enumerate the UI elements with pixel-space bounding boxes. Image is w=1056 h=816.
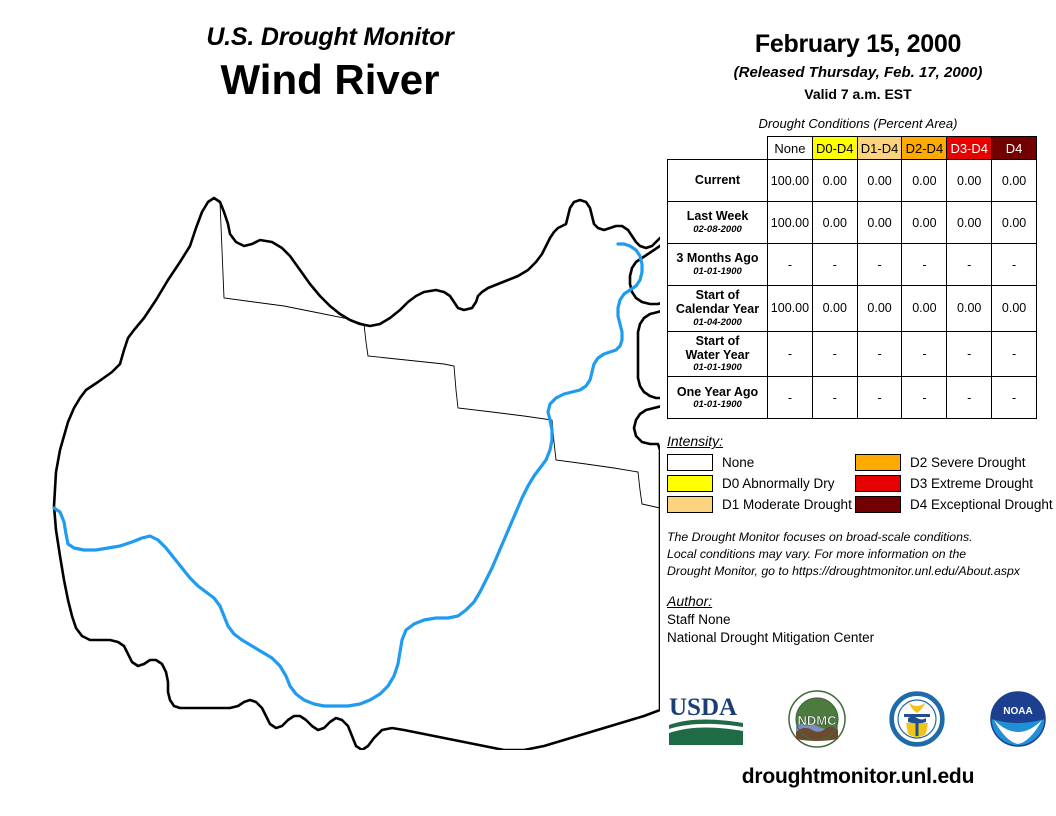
usda-logo: USDA bbox=[667, 691, 745, 752]
legend-row: D1 Moderate Drought D4 Exceptional Droug… bbox=[667, 496, 1043, 513]
table-header-row: None D0-D4 D1-D4 D2-D4 D3-D4 D4 bbox=[668, 137, 1037, 160]
report-date: February 15, 2000 bbox=[660, 30, 1056, 59]
table-row: Start ofCalendar Year 01-04-2000 100.00 … bbox=[668, 286, 1037, 332]
row-label-text: Last Week bbox=[687, 209, 749, 223]
row-label-date: 02-08-2000 bbox=[671, 225, 764, 236]
row-label-3-months-ago: 3 Months Ago 01-01-1900 bbox=[668, 244, 768, 286]
disclaimer-line-2: Local conditions may vary. For more info… bbox=[667, 546, 1047, 563]
legend-row: D0 Abnormally Dry D3 Extreme Drought bbox=[667, 475, 1043, 492]
cell-lastweek-d2d4: 0.00 bbox=[902, 202, 947, 244]
cell-calyear-d1d4: 0.00 bbox=[857, 286, 902, 332]
page-title: Wind River bbox=[0, 56, 660, 104]
column-header-d0d4: D0-D4 bbox=[812, 137, 857, 160]
cell-calyear-d0d4: 0.00 bbox=[812, 286, 857, 332]
table-row: Start ofWater Year 01-01-1900 - - - - - … bbox=[668, 331, 1037, 377]
cell-wateryear-d2d4: - bbox=[902, 331, 947, 377]
cell-3months-d4: - bbox=[992, 244, 1037, 286]
cell-3months-d3d4: - bbox=[947, 244, 992, 286]
row-label-start-calendar-year: Start ofCalendar Year 01-04-2000 bbox=[668, 286, 768, 332]
cell-calyear-d4: 0.00 bbox=[992, 286, 1037, 332]
swatch-d4 bbox=[855, 496, 901, 513]
swatch-d1 bbox=[667, 496, 713, 513]
column-header-d4: D4 bbox=[992, 137, 1037, 160]
author-heading: Author: bbox=[667, 593, 1056, 609]
legend-label-d4: D4 Exceptional Drought bbox=[910, 497, 1053, 512]
row-label-date: 01-01-1900 bbox=[671, 400, 764, 411]
cell-current-d2d4: 0.00 bbox=[902, 160, 947, 202]
drought-conditions-table: None D0-D4 D1-D4 D2-D4 D3-D4 D4 Current … bbox=[667, 136, 1037, 419]
intensity-heading: Intensity: bbox=[667, 433, 1056, 449]
row-label-text: Start ofWater Year bbox=[686, 334, 750, 362]
row-label-last-week: Last Week 02-08-2000 bbox=[668, 202, 768, 244]
svg-text:NDMC: NDMC bbox=[797, 713, 837, 728]
cell-calyear-d3d4: 0.00 bbox=[947, 286, 992, 332]
author-name: Staff None bbox=[667, 611, 1056, 629]
swatch-d2 bbox=[855, 454, 901, 471]
usdc-seal-logo bbox=[888, 690, 946, 753]
row-label-date: 01-04-2000 bbox=[671, 318, 764, 329]
table-row: One Year Ago 01-01-1900 - - - - - - bbox=[668, 377, 1037, 419]
table-corner-cell bbox=[668, 137, 768, 160]
table-caption: Drought Conditions (Percent Area) bbox=[660, 116, 1056, 131]
cell-current-d1d4: 0.00 bbox=[857, 160, 902, 202]
legend-label-d2: D2 Severe Drought bbox=[910, 455, 1026, 470]
disclaimer-text: The Drought Monitor focuses on broad-sca… bbox=[667, 529, 1047, 579]
cell-lastweek-d3d4: 0.00 bbox=[947, 202, 992, 244]
legend-item-d0: D0 Abnormally Dry bbox=[667, 475, 855, 492]
cell-oneyear-d1d4: - bbox=[857, 377, 902, 419]
row-label-text: Current bbox=[695, 173, 740, 187]
cell-current-none: 100.00 bbox=[768, 160, 813, 202]
row-label-start-water-year: Start ofWater Year 01-01-1900 bbox=[668, 331, 768, 377]
cell-wateryear-d3d4: - bbox=[947, 331, 992, 377]
region-outline bbox=[54, 198, 660, 750]
column-header-d1d4: D1-D4 bbox=[857, 137, 902, 160]
cell-oneyear-d0d4: - bbox=[812, 377, 857, 419]
table-row: Current 100.00 0.00 0.00 0.00 0.00 0.00 bbox=[668, 160, 1037, 202]
cell-oneyear-d3d4: - bbox=[947, 377, 992, 419]
drought-monitor-page: U.S. Drought Monitor Wind River February… bbox=[0, 0, 1056, 816]
legend-item-d2: D2 Severe Drought bbox=[855, 454, 1043, 471]
cell-lastweek-d4: 0.00 bbox=[992, 202, 1037, 244]
report-panel: February 15, 2000 (Released Thursday, Fe… bbox=[660, 0, 1056, 816]
cell-current-d4: 0.00 bbox=[992, 160, 1037, 202]
legend-row: None D2 Severe Drought bbox=[667, 454, 1043, 471]
column-header-d3d4: D3-D4 bbox=[947, 137, 992, 160]
svg-text:NOAA: NOAA bbox=[1003, 706, 1032, 717]
cell-current-d0d4: 0.00 bbox=[812, 160, 857, 202]
cell-wateryear-none: - bbox=[768, 331, 813, 377]
row-label-one-year-ago: One Year Ago 01-01-1900 bbox=[668, 377, 768, 419]
ndmc-logo: NDMC bbox=[788, 690, 846, 753]
cell-wateryear-d1d4: - bbox=[857, 331, 902, 377]
legend-item-none: None bbox=[667, 454, 855, 471]
map-title-block: U.S. Drought Monitor Wind River bbox=[0, 24, 660, 104]
swatch-none bbox=[667, 454, 713, 471]
table-row: Last Week 02-08-2000 100.00 0.00 0.00 0.… bbox=[668, 202, 1037, 244]
table-row: 3 Months Ago 01-01-1900 - - - - - - bbox=[668, 244, 1037, 286]
cell-wateryear-d4: - bbox=[992, 331, 1037, 377]
row-label-date: 01-01-1900 bbox=[671, 363, 764, 374]
cell-3months-d0d4: - bbox=[812, 244, 857, 286]
legend-label-d3: D3 Extreme Drought bbox=[910, 476, 1033, 491]
drought-map bbox=[24, 150, 660, 750]
logo-row: USDA NDMC bbox=[667, 690, 1047, 753]
report-valid-time: Valid 7 a.m. EST bbox=[660, 86, 1056, 102]
noaa-logo: NOAA bbox=[989, 690, 1047, 753]
swatch-d3 bbox=[855, 475, 901, 492]
svg-text:USDA: USDA bbox=[669, 694, 737, 721]
cell-lastweek-none: 100.00 bbox=[768, 202, 813, 244]
report-released-date: (Released Thursday, Feb. 17, 2000) bbox=[660, 64, 1056, 81]
cell-calyear-none: 100.00 bbox=[768, 286, 813, 332]
legend-label-d1: D1 Moderate Drought bbox=[722, 497, 852, 512]
legend-label-none: None bbox=[722, 455, 754, 470]
cell-3months-none: - bbox=[768, 244, 813, 286]
row-label-current: Current bbox=[668, 160, 768, 202]
swatch-d0 bbox=[667, 475, 713, 492]
page-title-top: U.S. Drought Monitor bbox=[0, 24, 660, 52]
cell-3months-d1d4: - bbox=[857, 244, 902, 286]
cell-current-d3d4: 0.00 bbox=[947, 160, 992, 202]
cell-oneyear-none: - bbox=[768, 377, 813, 419]
cell-lastweek-d1d4: 0.00 bbox=[857, 202, 902, 244]
cell-3months-d2d4: - bbox=[902, 244, 947, 286]
row-label-text: 3 Months Ago bbox=[676, 251, 758, 265]
column-header-d2d4: D2-D4 bbox=[902, 137, 947, 160]
row-label-text: One Year Ago bbox=[677, 385, 758, 399]
cell-calyear-d2d4: 0.00 bbox=[902, 286, 947, 332]
cell-oneyear-d2d4: - bbox=[902, 377, 947, 419]
row-label-text: Start ofCalendar Year bbox=[676, 288, 759, 316]
legend-label-d0: D0 Abnormally Dry bbox=[722, 476, 835, 491]
column-header-none: None bbox=[768, 137, 813, 160]
author-organization: National Drought Mitigation Center bbox=[667, 629, 1056, 647]
legend-item-d3: D3 Extreme Drought bbox=[855, 475, 1043, 492]
row-label-date: 01-01-1900 bbox=[671, 267, 764, 278]
disclaimer-line-1: The Drought Monitor focuses on broad-sca… bbox=[667, 529, 1047, 546]
cell-lastweek-d0d4: 0.00 bbox=[812, 202, 857, 244]
disclaimer-line-3: Drought Monitor, go to https://droughtmo… bbox=[667, 563, 1047, 580]
site-url: droughtmonitor.unl.edu bbox=[660, 765, 1056, 789]
legend-item-d4: D4 Exceptional Drought bbox=[855, 496, 1043, 513]
legend-item-d1: D1 Moderate Drought bbox=[667, 496, 855, 513]
cell-oneyear-d4: - bbox=[992, 377, 1037, 419]
cell-wateryear-d0d4: - bbox=[812, 331, 857, 377]
intensity-legend: None D2 Severe Drought D0 Abnormally Dry… bbox=[667, 454, 1043, 513]
